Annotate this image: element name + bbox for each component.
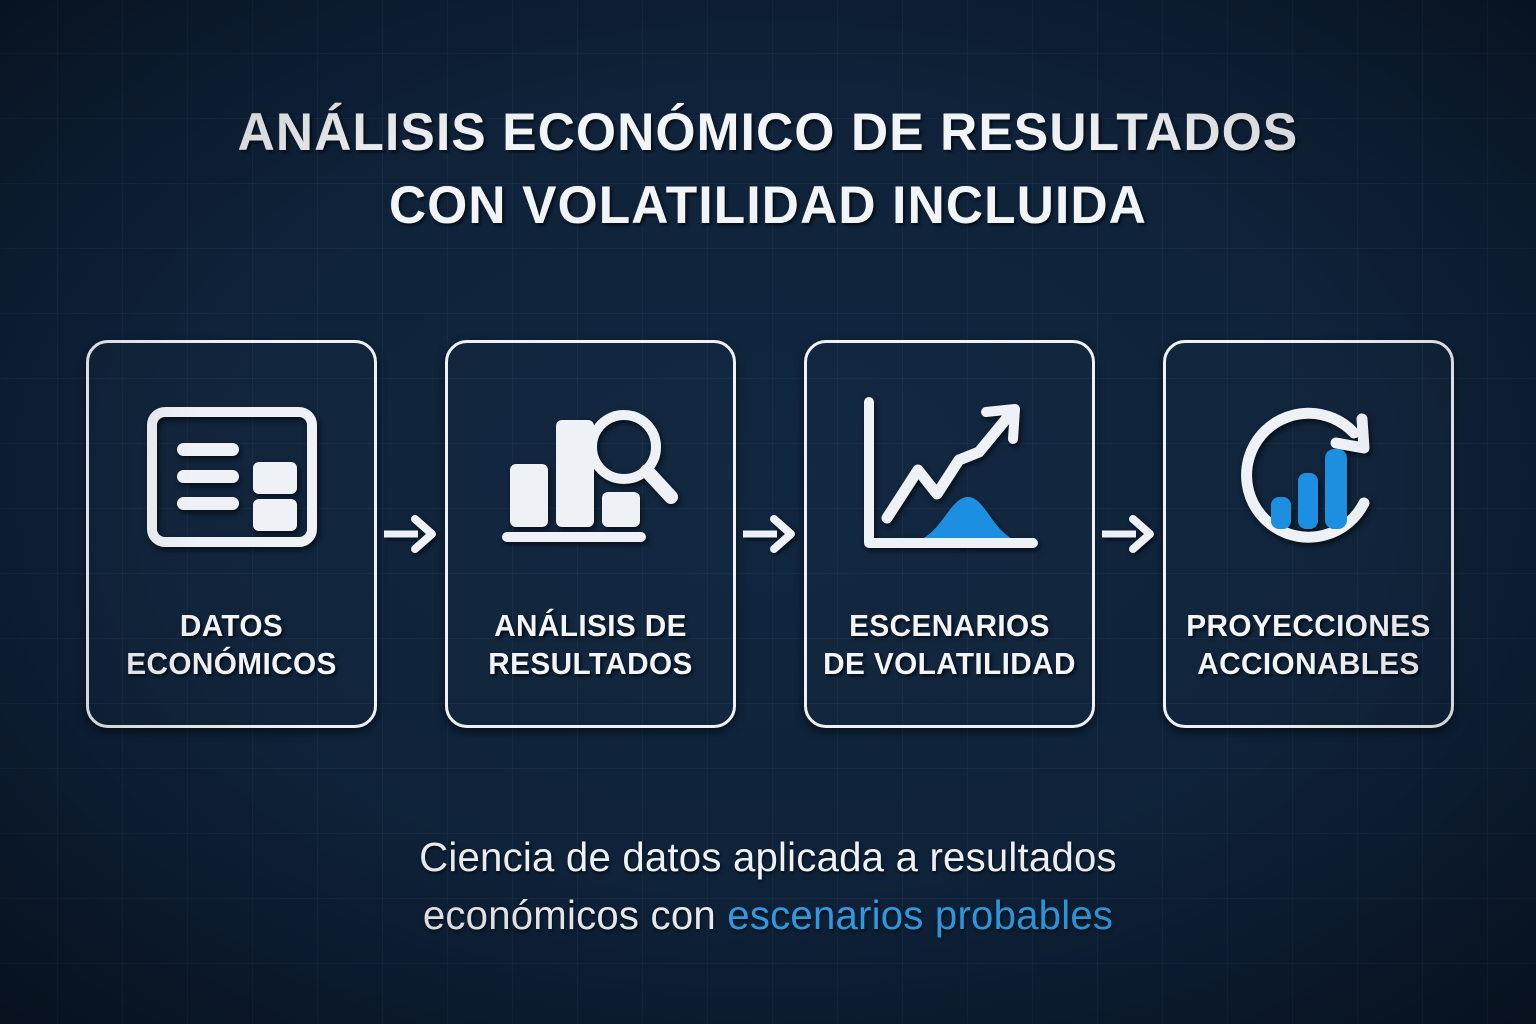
page-title-line-1: ANÁLISIS ECONÓMICO DE RESULTADOS xyxy=(23,96,1513,169)
flow-step-label-1-line-1: DATOS xyxy=(180,608,283,643)
flow-step-label-1-line-2: ECONÓMICOS xyxy=(100,645,362,683)
bar-chart-magnifier-icon xyxy=(496,391,686,563)
caption-line-2: económicos con escenarios probables xyxy=(15,886,1520,944)
page-title-line-2: CON VOLATILIDAD INCLUIDA xyxy=(23,169,1513,242)
arrow-right-icon xyxy=(1098,504,1160,564)
flow-step-label-2: ANÁLISIS DE RESULTADOS xyxy=(454,607,728,683)
flow-step-label-1: DATOS ECONÓMICOS xyxy=(95,607,369,683)
trend-arrow-bell-curve-icon xyxy=(855,391,1045,563)
caption: Ciencia de datos aplicada a resultados e… xyxy=(15,828,1520,944)
flow-step-card-4[interactable]: PROYECCIONES ACCIONABLES xyxy=(1163,340,1454,728)
flow-step-card-1[interactable]: DATOS ECONÓMICOS xyxy=(86,340,377,728)
process-flow-row: DATOS ECONÓMICOS xyxy=(86,338,1454,730)
flow-step-card-3[interactable]: ESCENARIOS DE VOLATILIDAD xyxy=(804,340,1095,728)
flow-step-label-4: PROYECCIONES ACCIONABLES xyxy=(1172,607,1446,683)
arrow-right-icon xyxy=(739,504,801,564)
flow-step-label-3: ESCENARIOS DE VOLATILIDAD xyxy=(813,607,1087,683)
flow-step-label-3-line-1: ESCENARIOS xyxy=(849,608,1050,643)
caption-highlight: escenarios probables xyxy=(727,892,1113,938)
arrow-right-icon xyxy=(380,504,442,564)
refresh-circle-bars-icon xyxy=(1214,391,1404,563)
flow-step-label-4-line-1: PROYECCIONES xyxy=(1186,608,1430,643)
page-title: ANÁLISIS ECONÓMICO DE RESULTADOS CON VOL… xyxy=(0,96,1536,242)
caption-line-2-prefix: económicos con xyxy=(423,892,727,938)
flow-step-card-2[interactable]: ANÁLISIS DE RESULTADOS xyxy=(445,340,736,728)
infographic-canvas: ANÁLISIS ECONÓMICO DE RESULTADOS CON VOL… xyxy=(0,0,1536,1024)
flow-step-label-3-line-2: DE VOLATILIDAD xyxy=(818,645,1080,683)
caption-line-1: Ciencia de datos aplicada a resultados xyxy=(15,828,1520,886)
flow-step-label-2-line-1: ANÁLISIS DE xyxy=(494,608,687,643)
data-card-icon xyxy=(137,391,327,563)
flow-step-label-4-line-2: ACCIONABLES xyxy=(1177,645,1439,683)
flow-step-label-2-line-2: RESULTADOS xyxy=(459,645,721,683)
